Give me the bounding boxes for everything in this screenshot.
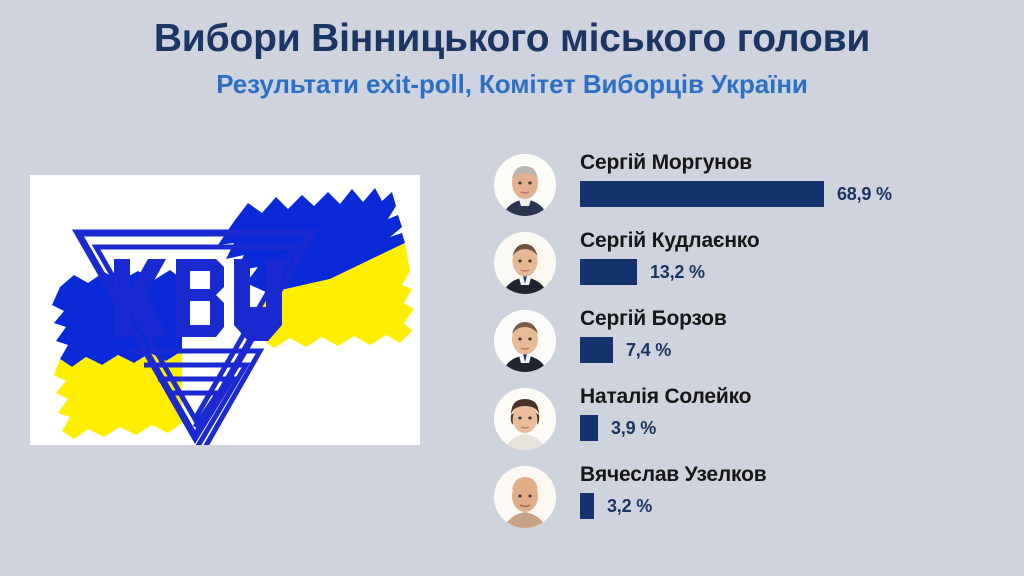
result-bar [580, 181, 824, 207]
header: Вибори Вінницького міського голови Резул… [0, 0, 1024, 100]
result-row: Сергій Кудлаєнко 13,2 % [494, 226, 1014, 304]
result-body: Вячеслав Узелков 3,2 % [580, 460, 1014, 519]
percent-label: 13,2 % [650, 262, 705, 283]
candidate-name: Сергій Моргунов [580, 148, 1014, 173]
bar-line: 13,2 % [580, 259, 1014, 285]
result-row: Наталія Солейко 3,9 % [494, 382, 1014, 460]
avatar-serhiy-borzov [494, 310, 556, 372]
result-body: Сергій Борзов 7,4 % [580, 304, 1014, 363]
content-area: Сергій Моргунов 68,9 % [0, 130, 1024, 576]
bar-line: 3,2 % [580, 493, 1014, 519]
result-row: Сергій Борзов 7,4 % [494, 304, 1014, 382]
candidate-name: Вячеслав Узелков [580, 460, 1014, 485]
result-bar [580, 493, 594, 519]
kvu-logo-panel [30, 175, 420, 445]
avatar-viacheslav-uzelkov [494, 466, 556, 528]
bar-line: 3,9 % [580, 415, 1014, 441]
avatar-nataliia-soleiko [494, 388, 556, 450]
candidate-name: Сергій Борзов [580, 304, 1014, 329]
result-row: Сергій Моргунов 68,9 % [494, 148, 1014, 226]
candidate-name: Наталія Солейко [580, 382, 1014, 407]
result-body: Наталія Солейко 3,9 % [580, 382, 1014, 441]
result-row: Вячеслав Узелков 3,2 % [494, 460, 1014, 538]
page-title: Вибори Вінницького міського голови [0, 16, 1024, 62]
result-bar [580, 259, 637, 285]
kvu-logo-icon [30, 175, 420, 445]
avatar-serhiy-morhunov [494, 154, 556, 216]
percent-label: 3,2 % [607, 496, 652, 517]
percent-label: 3,9 % [611, 418, 656, 439]
result-bar [580, 337, 613, 363]
result-body: Сергій Моргунов 68,9 % [580, 148, 1014, 207]
result-bar [580, 415, 598, 441]
result-body: Сергій Кудлаєнко 13,2 % [580, 226, 1014, 285]
bar-line: 7,4 % [580, 337, 1014, 363]
results-list: Сергій Моргунов 68,9 % [494, 148, 1014, 538]
candidate-name: Сергій Кудлаєнко [580, 226, 1014, 251]
bar-line: 68,9 % [580, 181, 1014, 207]
percent-label: 7,4 % [626, 340, 671, 361]
page-subtitle: Результати exit-poll, Комітет Виборців У… [0, 69, 1024, 100]
avatar-serhiy-kudlaienko [494, 232, 556, 294]
percent-label: 68,9 % [837, 184, 892, 205]
